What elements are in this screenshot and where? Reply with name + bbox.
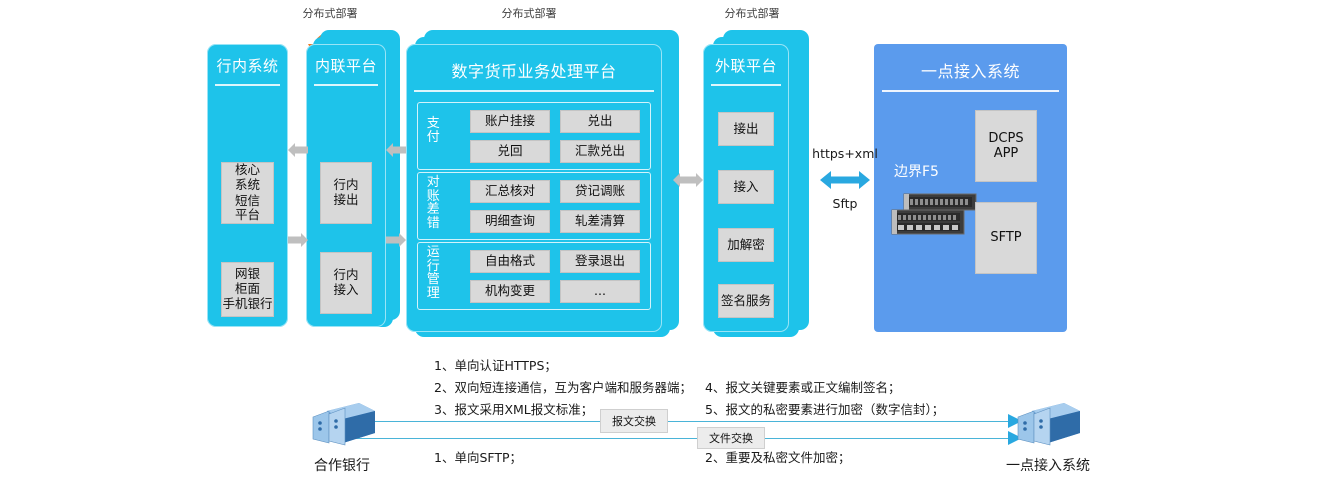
cell-line: 短信 — [235, 194, 260, 209]
note-item: 2、双向短连接通信，互为客户端和服务器端； — [434, 377, 692, 396]
panel-intranet-system: 行内系统 核心 系统 短信 平台 网银 柜面 手机银行 — [207, 44, 288, 327]
note-item-bottom-left: 1、单向SFTP； — [434, 447, 522, 466]
group-label: 运行管理 — [426, 246, 442, 301]
panel-internal-platform: 内联平台 行内 接出 行内 接入 — [306, 44, 386, 327]
cell-line: 行内 — [333, 178, 358, 193]
server-label-partner-bank: 合作银行 — [314, 455, 370, 475]
cell-line: 接入 — [333, 283, 358, 298]
architecture-diagram: 分布式部署 分布式部署 分布式部署 行内系统 核心 系统 短信 平台 网银 柜面… — [0, 0, 1333, 483]
cell-more: ... — [560, 280, 640, 303]
panel-title: 数字货币业务处理平台 — [406, 44, 662, 82]
cell-connect-out: 接出 — [718, 112, 774, 146]
cell-line: 接出 — [333, 193, 358, 208]
arrow-left-icon — [386, 143, 406, 157]
group-label: 对账差错 — [426, 176, 442, 231]
server-icon — [307, 401, 377, 449]
note-item: 3、报文采用XML报文标准； — [434, 399, 593, 418]
cell-line: 系统 — [235, 178, 260, 193]
cell-line: 行内 — [333, 268, 358, 283]
file-exchange-line — [355, 438, 1010, 439]
group-operation-management: 运行管理 自由格式 登录退出 机构变更 ... — [417, 242, 651, 310]
cell-exchange-back: 兑回 — [470, 140, 550, 163]
cell-account-link: 账户挂接 — [470, 110, 550, 133]
f5-switch-icon — [890, 192, 978, 238]
cell-exchange-out: 兑出 — [560, 110, 640, 133]
server-icon — [1012, 401, 1082, 449]
group-label: 支付 — [426, 117, 442, 144]
cell-netting-settle: 轧差清算 — [560, 210, 640, 233]
cell-line: 手机银行 — [222, 297, 272, 312]
panel-dcep-platform: 数字货币业务处理平台 支付 账户挂接 兑出 兑回 汇款兑出 对账差错 汇总核对 … — [406, 44, 662, 332]
protocol-label-sftp: Sftp — [833, 196, 858, 211]
arrow-bidirectional-icon — [673, 173, 703, 187]
exchange-label-file: 文件交换 — [697, 427, 765, 449]
cell-line: 网银 — [235, 267, 260, 282]
panel-single-access-system: 一点接入系统 边界F5 — [874, 44, 1067, 332]
arrow-left-icon — [288, 143, 308, 157]
exchange-label-message: 报文交换 — [600, 409, 668, 433]
note-item-bottom-right: 2、重要及私密文件加密； — [705, 447, 850, 466]
cell-remit-exchange-out: 汇款兑出 — [560, 140, 640, 163]
f5-boundary-label: 边界F5 — [894, 161, 939, 181]
distributed-deploy-label: 分布式部署 — [303, 5, 358, 21]
cell-summary-check: 汇总核对 — [470, 180, 550, 203]
cell-intranet-in: 行内 接入 — [320, 252, 372, 314]
cell-line: 平台 — [235, 208, 260, 223]
arrow-right-icon — [386, 233, 406, 247]
cell-core-system: 核心 系统 短信 平台 — [221, 162, 274, 224]
server-label-single-access-system: 一点接入系统 — [1006, 455, 1090, 475]
note-item: 4、报文关键要素或正文编制签名； — [705, 377, 900, 396]
cell-signature-service: 签名服务 — [718, 284, 774, 318]
group-payment: 支付 账户挂接 兑出 兑回 汇款兑出 — [417, 102, 651, 170]
distributed-deploy-label: 分布式部署 — [725, 5, 780, 21]
message-exchange-line — [355, 421, 1010, 422]
cell-org-change: 机构变更 — [470, 280, 550, 303]
panel-title: 外联平台 — [703, 44, 789, 76]
cell-login-logout: 登录退出 — [560, 250, 640, 273]
note-item: 1、单向认证HTTPS； — [434, 355, 557, 374]
note-item: 5、报文的私密要素进行加密（数字信封）； — [705, 399, 944, 418]
cell-ebank-counter-mobile: 网银 柜面 手机银行 — [221, 262, 274, 317]
cell-intranet-out: 行内 接出 — [320, 162, 372, 224]
arrow-right-icon — [288, 233, 308, 247]
panel-title: 行内系统 — [207, 44, 288, 76]
cell-detail-query: 明细查询 — [470, 210, 550, 233]
cell-free-format: 自由格式 — [470, 250, 550, 273]
cell-line: DCPS — [988, 131, 1023, 146]
cell-credit-adjust: 贷记调账 — [560, 180, 640, 203]
cell-connect-in: 接入 — [718, 170, 774, 204]
distributed-deploy-label: 分布式部署 — [502, 5, 557, 21]
cell-dcps-app: DCPS APP — [975, 110, 1037, 182]
arrow-bidirectional-protocol-icon — [820, 170, 870, 190]
panel-title: 内联平台 — [306, 44, 386, 76]
cell-encrypt-decrypt: 加解密 — [718, 228, 774, 262]
cell-line: 柜面 — [235, 282, 260, 297]
panel-external-platform: 外联平台 接出 接入 加解密 签名服务 — [703, 44, 789, 332]
cell-line: APP — [994, 146, 1019, 161]
protocol-label-https-xml: https+xml — [812, 146, 878, 161]
cell-sftp: SFTP — [975, 202, 1037, 274]
panel-title: 一点接入系统 — [874, 44, 1067, 82]
cell-line: 核心 — [235, 163, 260, 178]
group-reconciliation: 对账差错 汇总核对 贷记调账 明细查询 轧差清算 — [417, 172, 651, 240]
